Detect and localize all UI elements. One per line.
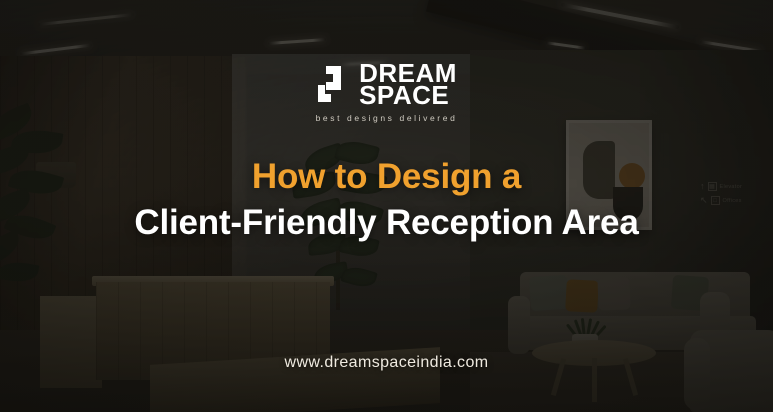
- logo-lockup: DREAM SPACE: [316, 62, 457, 107]
- headline-line-1: How to Design a: [134, 157, 638, 196]
- headline-line-2: Client-Friendly Reception Area: [134, 203, 638, 242]
- headline: How to Design a Client-Friendly Receptio…: [134, 157, 638, 242]
- promo-banner: ↑ ▦ Elevator ↖ □ Offices: [0, 0, 773, 412]
- brand-logo: DREAM SPACE best designs delivered: [316, 62, 458, 123]
- logo-tagline: best designs delivered: [316, 113, 458, 123]
- logo-word-bottom: SPACE: [359, 84, 457, 106]
- banner-content: DREAM SPACE best designs delivered How t…: [0, 0, 773, 412]
- website-url[interactable]: www.dreamspaceindia.com: [0, 354, 773, 372]
- dreamspace-monogram-icon: [316, 64, 350, 104]
- logo-wordmark: DREAM SPACE: [359, 62, 457, 107]
